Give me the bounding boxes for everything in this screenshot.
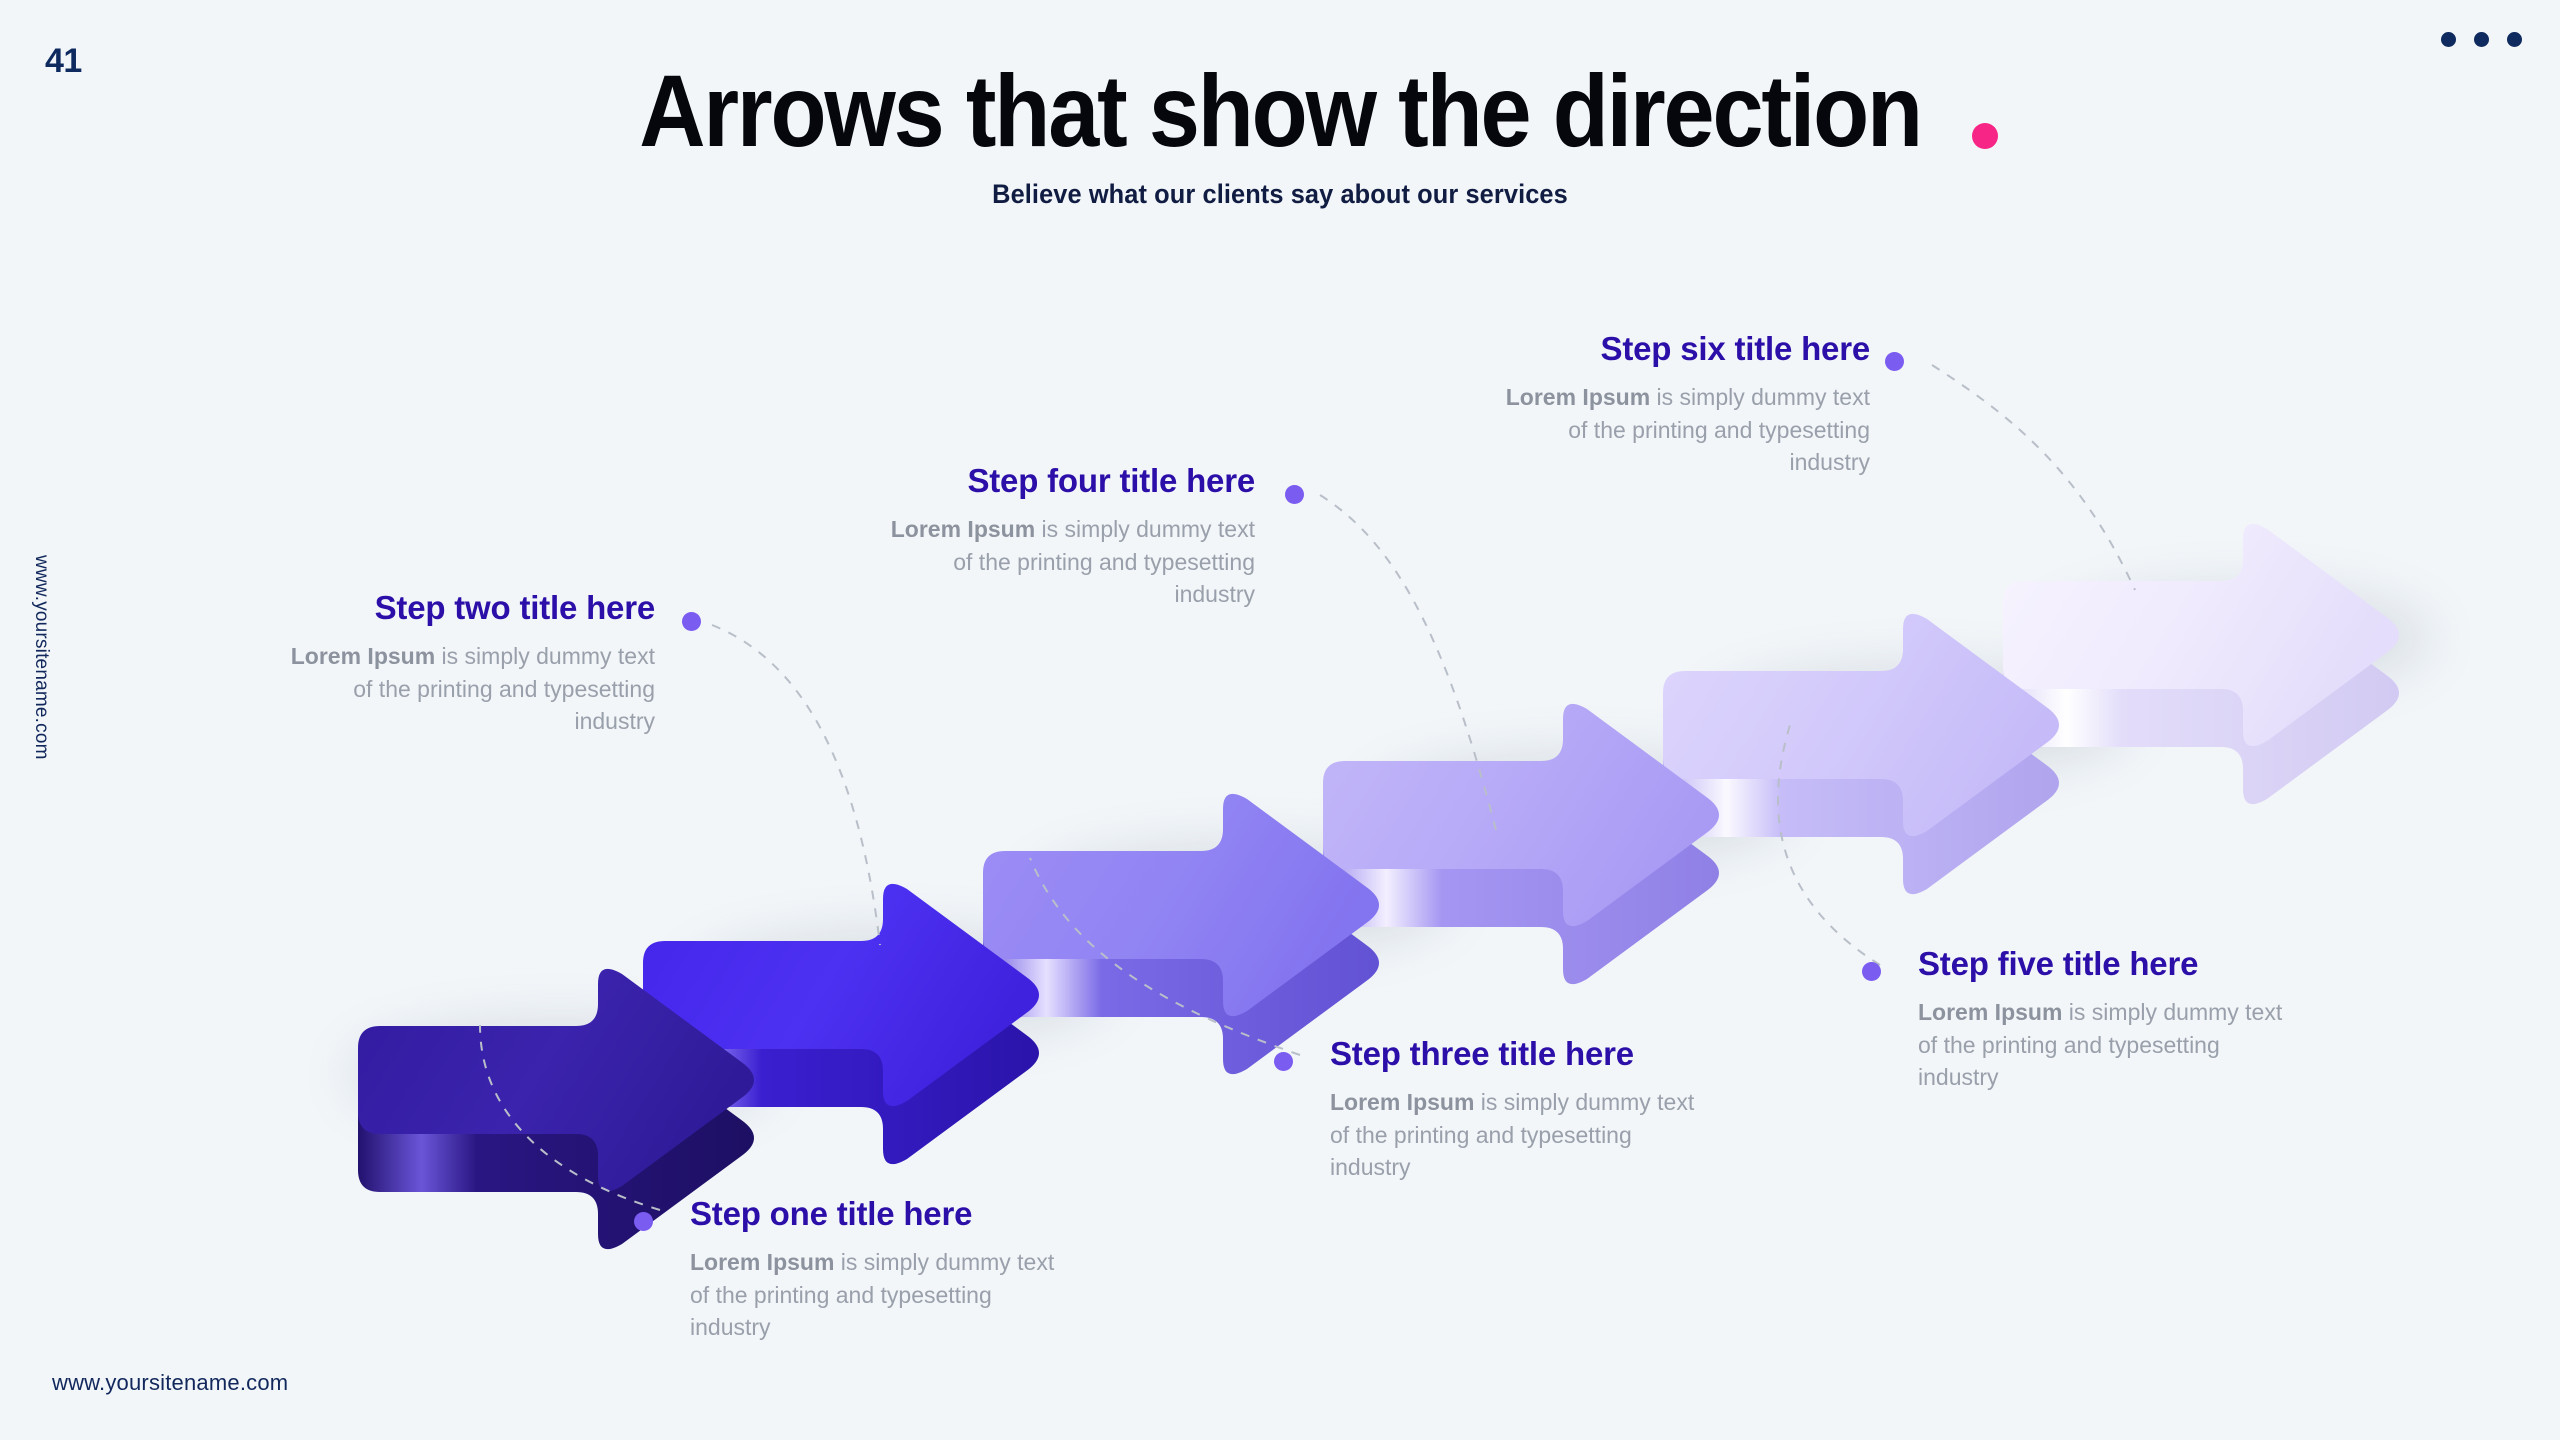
step-one-body-strong: Lorem Ipsum xyxy=(690,1249,834,1275)
callout-step-four[interactable]: Step four title here Lorem Ipsum is simp… xyxy=(890,462,1255,611)
callout-step-two[interactable]: Step two title here Lorem Ipsum is simpl… xyxy=(290,589,655,738)
step-two-body: Lorem Ipsum is simply dummy text of the … xyxy=(290,640,655,738)
arrow-step-three[interactable] xyxy=(983,794,1379,1074)
step-one-body: Lorem Ipsum is simply dummy text of the … xyxy=(690,1246,1070,1344)
step-five-title: Step five title here xyxy=(1918,945,2298,983)
step-two-dot-icon[interactable] xyxy=(682,612,701,631)
step-six-body-strong: Lorem Ipsum xyxy=(1506,384,1650,410)
step-six-dot-icon[interactable] xyxy=(1885,352,1904,371)
arrow-chain-diagram: Step six title here Lorem Ipsum is simpl… xyxy=(0,0,2560,1440)
arrow-step-five[interactable] xyxy=(1663,614,2059,894)
callout-step-three[interactable]: Step three title here Lorem Ipsum is sim… xyxy=(1330,1035,1710,1184)
step-four-body: Lorem Ipsum is simply dummy text of the … xyxy=(890,513,1255,611)
step-four-body-strong: Lorem Ipsum xyxy=(891,516,1035,542)
step-three-title: Step three title here xyxy=(1330,1035,1710,1073)
connector-step-six xyxy=(1932,365,2135,590)
arrow-step-four[interactable] xyxy=(1323,704,1719,984)
step-four-title: Step four title here xyxy=(890,462,1255,500)
step-one-dot-icon[interactable] xyxy=(634,1212,653,1231)
step-one-title: Step one title here xyxy=(690,1195,1070,1233)
step-six-body: Lorem Ipsum is simply dummy text of the … xyxy=(1490,381,1870,479)
slide-canvas: 41 Arrows that show the direction Believ… xyxy=(0,0,2560,1440)
callout-step-one[interactable]: Step one title here Lorem Ipsum is simpl… xyxy=(690,1195,1070,1344)
step-four-dot-icon[interactable] xyxy=(1285,485,1304,504)
callout-step-five[interactable]: Step five title here Lorem Ipsum is simp… xyxy=(1918,945,2298,1094)
step-six-title: Step six title here xyxy=(1490,330,1870,368)
arrow-step-six[interactable] xyxy=(2003,524,2399,804)
step-five-dot-icon[interactable] xyxy=(1862,962,1881,981)
step-three-dot-icon[interactable] xyxy=(1274,1052,1293,1071)
step-five-body: Lorem Ipsum is simply dummy text of the … xyxy=(1918,996,2298,1094)
step-five-body-strong: Lorem Ipsum xyxy=(1918,999,2062,1025)
step-three-body: Lorem Ipsum is simply dummy text of the … xyxy=(1330,1086,1710,1184)
connector-step-two xyxy=(712,625,880,945)
callout-step-six[interactable]: Step six title here Lorem Ipsum is simpl… xyxy=(1490,330,1870,479)
step-two-title: Step two title here xyxy=(290,589,655,627)
step-three-body-strong: Lorem Ipsum xyxy=(1330,1089,1474,1115)
step-two-body-strong: Lorem Ipsum xyxy=(291,643,435,669)
